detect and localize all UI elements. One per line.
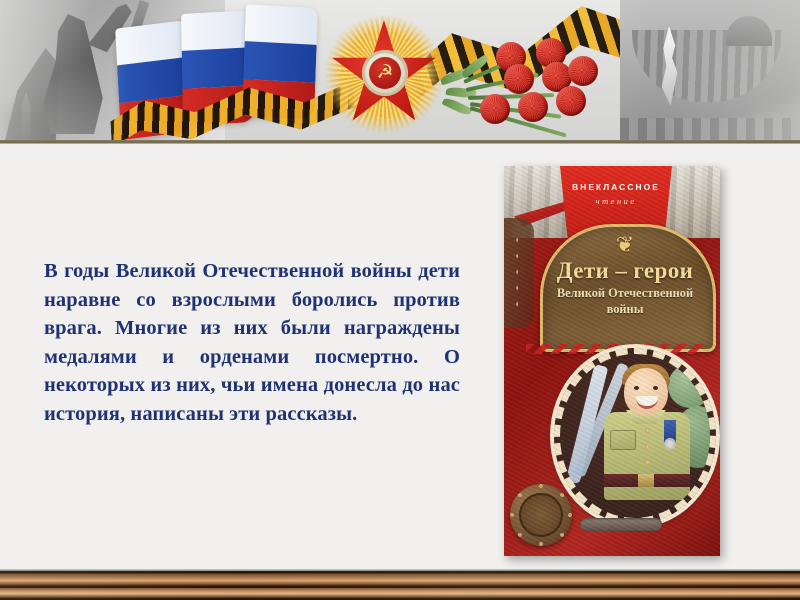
boy-medal-icon (664, 420, 676, 444)
banner-underline-divider (0, 140, 800, 144)
plaque-ornament-icon: ❦ (540, 230, 710, 260)
eternal-flame-memorial-icon (620, 0, 800, 144)
publisher-bar (580, 518, 662, 531)
memorial-dome (726, 16, 772, 46)
boy-eye-right (653, 386, 658, 390)
body-paragraph: В годы Великой Отечественной войны дети … (44, 257, 460, 429)
uniform-button-1 (645, 428, 650, 433)
victory-day-banner: ☭ (0, 0, 800, 144)
boy-chest-pocket (610, 430, 636, 450)
hammer-and-sickle-icon: ☭ (375, 63, 395, 83)
bottom-decorative-band (0, 571, 800, 600)
uniform-button-3 (645, 460, 650, 465)
book-subtitle-line2: войны (540, 302, 710, 317)
background-bush-1 (668, 364, 712, 408)
series-label-line1: ВНЕКЛАССНОЕ (560, 182, 672, 192)
leather-spine-edge (504, 218, 534, 328)
boy-soldier-portrait (554, 348, 716, 524)
book-title: Дети – герои (540, 258, 710, 284)
boy-belt-buckle (638, 474, 654, 487)
red-carnations-icon (440, 28, 620, 140)
order-of-patriotic-war-star-icon: ☭ (322, 12, 446, 136)
book-cover-image: ВНЕКЛАССНОЕ чтение ❦ Дети – герои Велико… (504, 166, 720, 556)
boy-eye-left (634, 386, 639, 390)
series-label-line2: чтение (560, 196, 672, 206)
uniform-button-2 (645, 444, 650, 449)
book-subtitle-line1: Великой Отечественной (534, 286, 716, 301)
medallion-rivets (508, 482, 574, 548)
slide-root: ☭ В годы (0, 0, 800, 600)
